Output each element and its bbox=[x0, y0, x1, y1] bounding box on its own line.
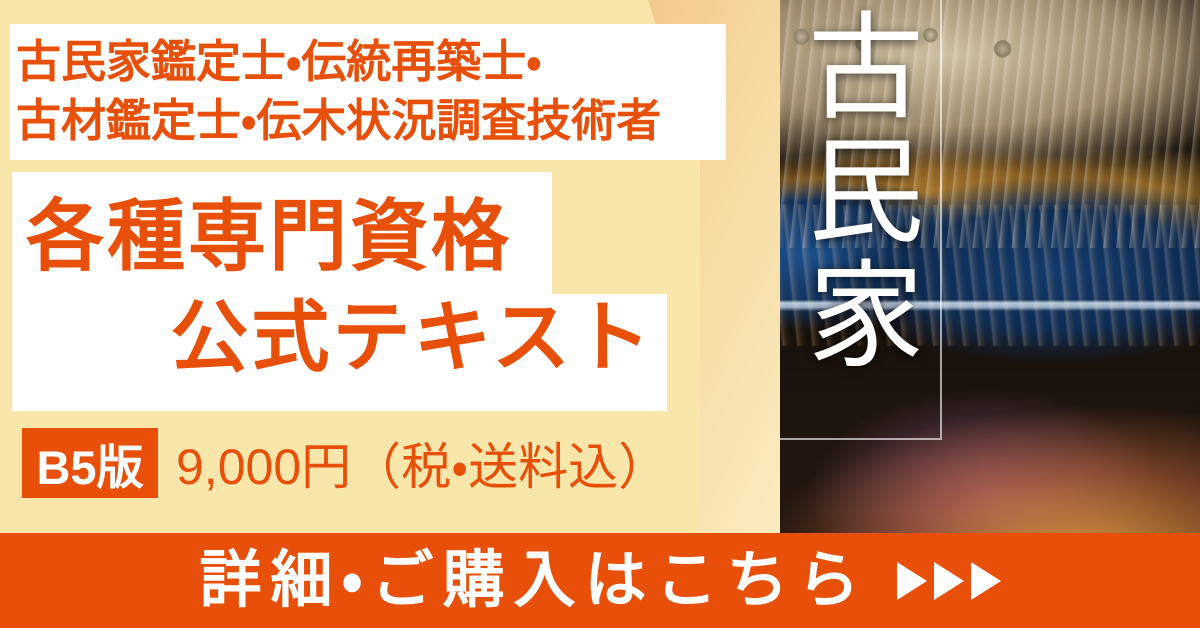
cta-label: 詳細・ご購入はこちら bbox=[199, 550, 868, 612]
format-badge: B5版 bbox=[22, 428, 158, 498]
qualifications-text: 古民家鑑定士・伝統再築士・ 古材鑑定士・伝木状況調査技術者 bbox=[16, 33, 722, 150]
cta-bar[interactable]: 詳細・ご購入はこちら bbox=[0, 533, 1200, 628]
qualifications-line-1: 古民家鑑定士・伝統再築士・ bbox=[16, 33, 722, 92]
headline-line-2: 公式テキスト bbox=[22, 287, 662, 388]
play-arrow-icon bbox=[897, 562, 927, 600]
qualifications-line-2: 古材鑑定士・伝木状況調査技術者 bbox=[16, 92, 722, 151]
book-cover-title: 古民家 bbox=[782, 6, 922, 378]
cta-arrows bbox=[897, 562, 1001, 600]
promo-banner: 古民家 伝統構法 古民家活用のための調査と再生の 古民家鑑定士・伝統再築士・ 古… bbox=[0, 0, 1200, 628]
headline-text: 各種専門資格 公式テキスト bbox=[22, 186, 662, 389]
headline-line-1: 各種専門資格 bbox=[22, 186, 662, 287]
play-arrow-icon bbox=[934, 562, 964, 600]
price-text: 9,000円（税・送料込） bbox=[176, 428, 668, 498]
play-arrow-icon bbox=[971, 562, 1001, 600]
